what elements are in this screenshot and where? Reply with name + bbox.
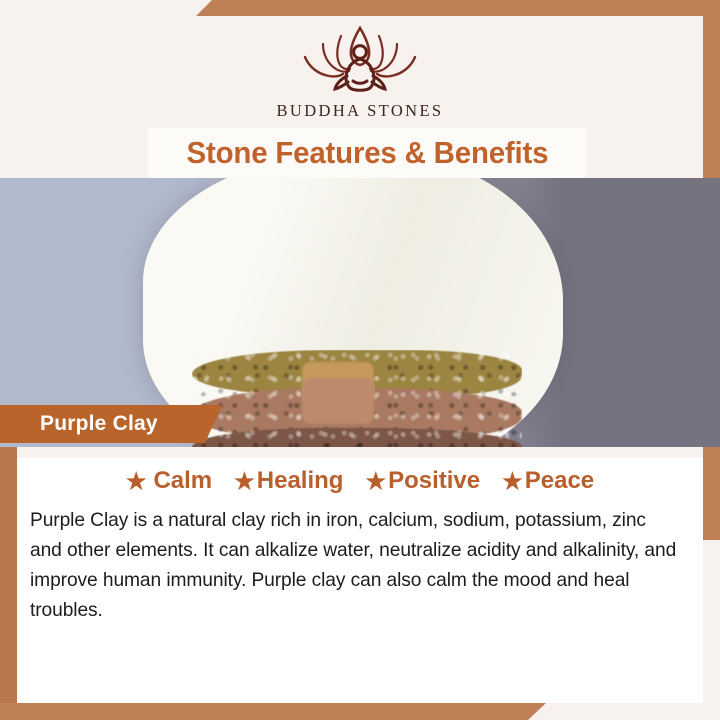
brand-name: BUDDHA STONES	[276, 101, 443, 121]
product-description: Purple Clay is a natural clay rich in ir…	[30, 505, 680, 625]
frame-bar-bottom	[0, 703, 546, 720]
star-icon: ★	[502, 470, 523, 493]
details-panel: ★ Calm ★ Healing ★ Positive ★ Peace Purp…	[17, 447, 703, 703]
benefits-row: ★ Calm ★ Healing ★ Positive ★ Peace	[17, 460, 703, 502]
star-icon: ★	[365, 470, 386, 493]
benefit-tag-peace: ★ Peace	[502, 467, 594, 495]
lotus-meditation-figure-icon	[275, 24, 445, 96]
photo-backdrop-right	[560, 178, 720, 447]
benefit-label: Calm	[153, 467, 212, 495]
benefit-label: Peace	[525, 467, 594, 495]
star-icon: ★	[126, 470, 147, 493]
product-name-banner: Purple Clay	[0, 405, 222, 443]
frame-bar-top	[196, 0, 720, 16]
brand-logo: BUDDHA STONES	[17, 24, 703, 121]
benefit-label: Healing	[257, 467, 344, 495]
benefit-tag-positive: ★ Positive	[365, 467, 480, 495]
benefit-tag-healing: ★ Healing	[234, 467, 343, 495]
product-info-card: BUDDHA STONES Stone Features & Benefits	[0, 0, 720, 720]
star-icon: ★	[234, 470, 255, 493]
product-name-label: Purple Clay	[40, 412, 158, 436]
benefit-label: Positive	[388, 467, 480, 495]
header: BUDDHA STONES Stone Features & Benefits	[17, 16, 703, 178]
benefit-tag-calm: ★ Calm	[126, 467, 212, 495]
panel-top-strip	[17, 447, 703, 458]
clay-powder-samples	[192, 350, 522, 447]
powder-edge-blend	[192, 350, 522, 447]
title-panel: Stone Features & Benefits	[148, 128, 586, 178]
page-title: Stone Features & Benefits	[186, 135, 548, 171]
